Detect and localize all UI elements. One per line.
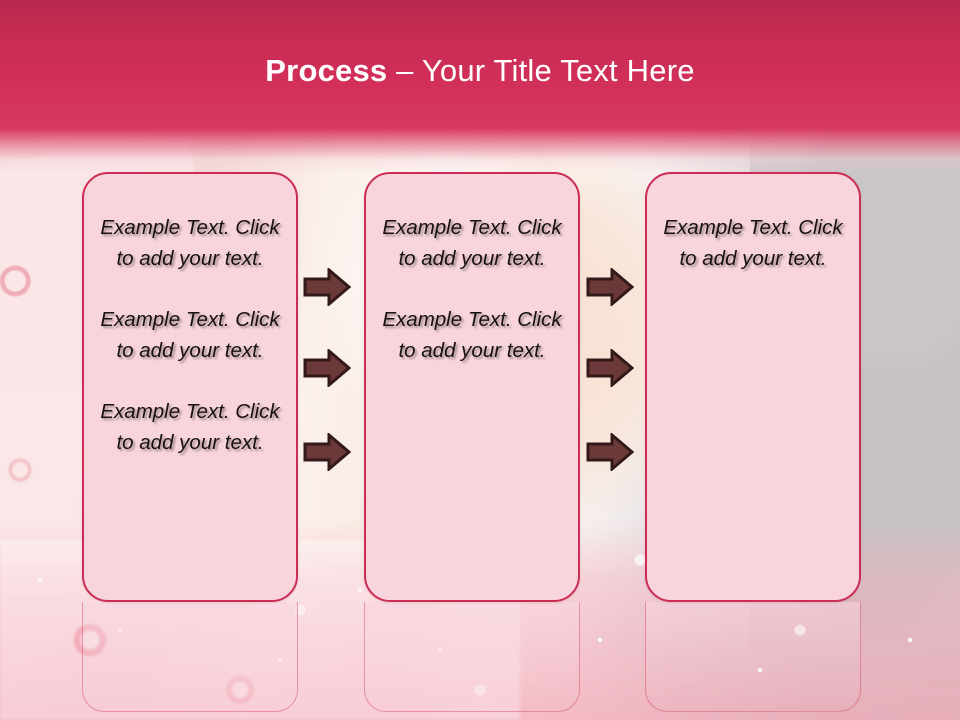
process-box-3-reflection [645,602,861,712]
process-box-2-paragraph-2[interactable]: Example Text. Click to add your text. [378,304,566,366]
process-box-3[interactable]: Example Text. Click to add your text. [645,172,861,602]
process-box-1-paragraph-2[interactable]: Example Text. Click to add your text. [96,304,284,366]
arrow-right-icon-2-3 [586,433,634,471]
process-box-2[interactable]: Example Text. Click to add your text. Ex… [364,172,580,602]
page-title-rest: Your Title Text Here [422,53,695,88]
process-box-1-reflection [82,602,298,712]
arrow-right-icon-2-2 [586,349,634,387]
page-title: Process – Your Title Text Here [0,52,960,90]
process-box-1[interactable]: Example Text. Click to add your text. Ex… [82,172,298,602]
process-box-2-reflection [364,602,580,712]
process-box-3-text: Example Text. Click to add your text. [659,212,847,274]
title-band-fade [0,128,960,173]
process-box-2-text: Example Text. Click to add your text. Ex… [378,212,566,366]
slide-canvas: Process – Your Title Text Here Example T… [0,0,960,720]
process-box-1-paragraph-3[interactable]: Example Text. Click to add your text. [96,396,284,458]
page-title-separator: – [387,53,422,88]
arrow-right-icon-1-3 [303,433,351,471]
arrow-right-icon-1-2 [303,349,351,387]
process-box-3-paragraph-1[interactable]: Example Text. Click to add your text. [659,212,847,274]
arrow-right-icon-2-1 [586,268,634,306]
page-title-main: Process [265,53,387,88]
process-box-2-paragraph-1[interactable]: Example Text. Click to add your text. [378,212,566,274]
process-box-1-paragraph-1[interactable]: Example Text. Click to add your text. [96,212,284,274]
process-box-1-text: Example Text. Click to add your text. Ex… [96,212,284,458]
arrow-right-icon-1-1 [303,268,351,306]
